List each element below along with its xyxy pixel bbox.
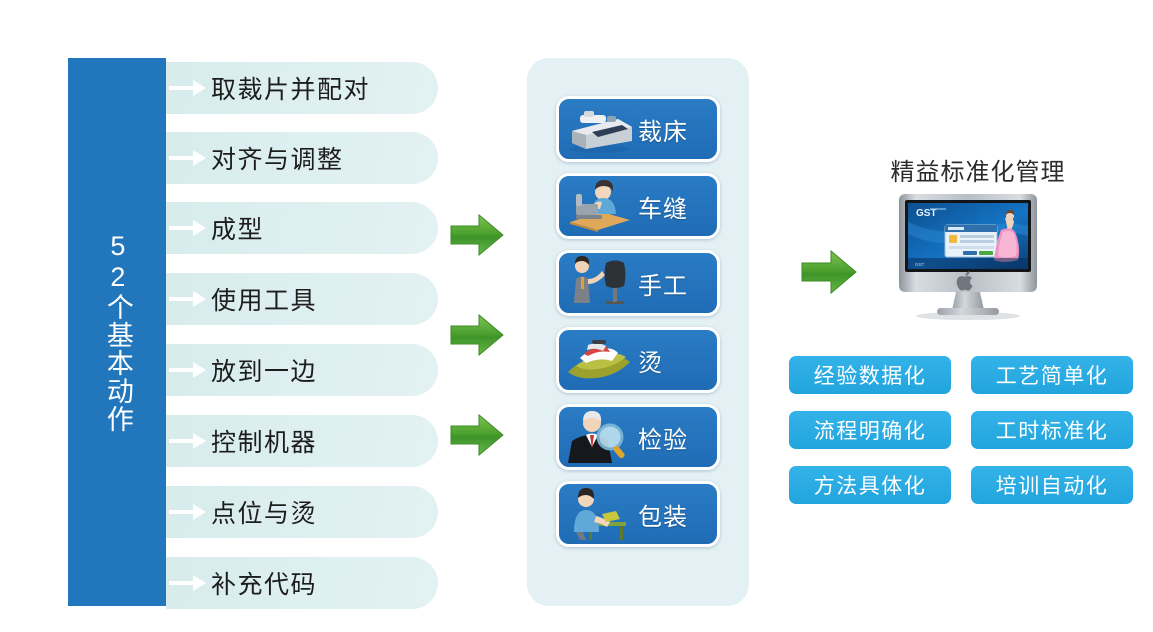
basic-actions-panel: 52个基本动作 取裁片并配对 对齐与调整 成型 使用工具 放到一边 bbox=[68, 58, 438, 606]
basic-actions-bar: 52个基本动作 bbox=[68, 58, 166, 606]
process-card[interactable]: 手工 bbox=[556, 250, 720, 316]
arrow-right-icon bbox=[169, 290, 207, 308]
inspector-magnifier-icon bbox=[562, 409, 636, 465]
process-card[interactable]: 烫 bbox=[556, 327, 720, 393]
packing-worker-icon bbox=[562, 486, 636, 542]
green-arrow-right-icon bbox=[449, 212, 505, 258]
action-row[interactable]: 取裁片并配对 bbox=[166, 62, 438, 114]
action-row-label: 使用工具 bbox=[211, 281, 317, 317]
benefit-tag[interactable]: 培训自动化 bbox=[971, 466, 1133, 504]
action-row-label: 放到一边 bbox=[211, 352, 317, 388]
benefit-tag[interactable]: 工艺简单化 bbox=[971, 356, 1133, 394]
cutting-machine-icon bbox=[562, 101, 636, 157]
green-arrow-right-icon bbox=[800, 248, 858, 296]
action-row[interactable]: 控制机器 bbox=[166, 415, 438, 467]
green-arrow-right-icon bbox=[449, 412, 505, 458]
process-card[interactable]: 检验 bbox=[556, 404, 720, 470]
process-card-label: 检验 bbox=[638, 420, 688, 455]
benefit-tags-group: 经验数据化 工艺简单化 流程明确化 工时标准化 方法具体化 培训自动化 bbox=[789, 356, 1134, 504]
action-row[interactable]: 使用工具 bbox=[166, 273, 438, 325]
action-row-label: 取裁片并配对 bbox=[211, 70, 370, 106]
process-card[interactable]: 裁床 bbox=[556, 96, 720, 162]
svg-text:GST: GST bbox=[915, 262, 925, 267]
arrow-right-icon bbox=[169, 149, 207, 167]
tailor-mannequin-icon bbox=[562, 255, 636, 311]
benefit-tag[interactable]: 经验数据化 bbox=[789, 356, 951, 394]
iron-pressing-icon bbox=[562, 332, 636, 388]
action-row-label: 成型 bbox=[211, 210, 264, 246]
benefit-tag[interactable]: 方法具体化 bbox=[789, 466, 951, 504]
process-card[interactable]: 包装 bbox=[556, 481, 720, 547]
benefit-tag[interactable]: 工时标准化 bbox=[971, 411, 1133, 449]
action-row-label: 点位与烫 bbox=[211, 494, 317, 530]
process-card-label: 包装 bbox=[638, 497, 688, 532]
process-card-label: 手工 bbox=[638, 266, 688, 301]
basic-actions-bar-label: 52个基本动作 bbox=[101, 231, 133, 433]
action-row-label: 补充代码 bbox=[211, 565, 317, 601]
arrow-right-icon bbox=[169, 574, 207, 592]
action-row[interactable]: 放到一边 bbox=[166, 344, 438, 396]
arrow-right-icon bbox=[169, 219, 207, 237]
process-panel: 裁床 车缝 bbox=[527, 58, 749, 606]
arrow-right-icon bbox=[169, 503, 207, 521]
process-card[interactable]: 车缝 bbox=[556, 173, 720, 239]
action-row[interactable]: 点位与烫 bbox=[166, 486, 438, 538]
process-card-label: 车缝 bbox=[638, 189, 688, 224]
action-row[interactable]: 对齐与调整 bbox=[166, 132, 438, 184]
green-arrow-right-icon bbox=[449, 312, 505, 358]
action-row[interactable]: 成型 bbox=[166, 202, 438, 254]
process-card-label: 烫 bbox=[638, 343, 663, 378]
imac-monitor-icon: GST GST bbox=[893, 192, 1043, 320]
sewing-machine-operator-icon bbox=[562, 178, 636, 234]
arrow-right-icon bbox=[169, 432, 207, 450]
action-row-label: 控制机器 bbox=[211, 423, 317, 459]
process-card-label: 裁床 bbox=[638, 112, 688, 147]
arrow-right-icon bbox=[169, 361, 207, 379]
arrow-right-icon bbox=[169, 79, 207, 97]
action-row-label: 对齐与调整 bbox=[211, 140, 344, 176]
page-title: 精益标准化管理 bbox=[868, 152, 1088, 187]
benefit-tag[interactable]: 流程明确化 bbox=[789, 411, 951, 449]
action-row[interactable]: 补充代码 bbox=[166, 557, 438, 609]
